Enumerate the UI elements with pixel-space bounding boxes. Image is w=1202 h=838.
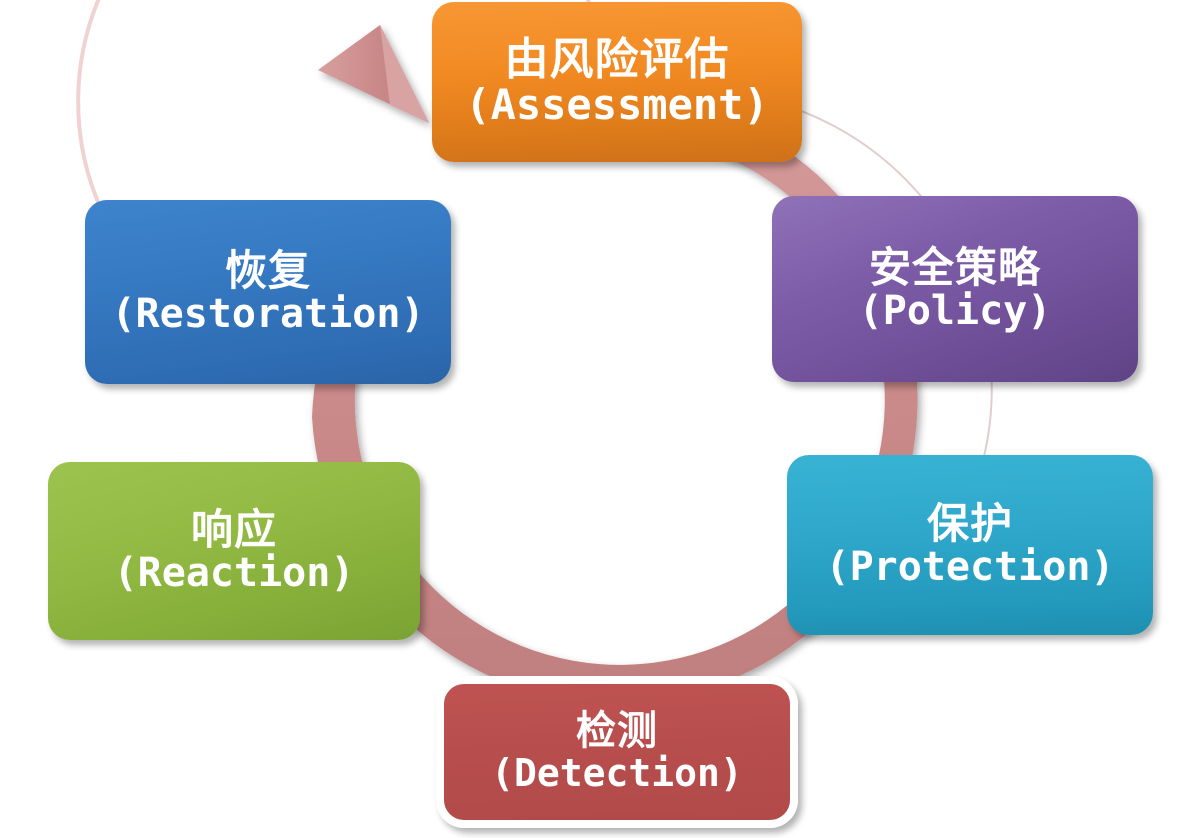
cycle-node-reaction[interactable]: 响应 (Reaction) [48,462,420,640]
cycle-node-protection[interactable]: 保护 (Protection) [787,455,1153,635]
node-label-cn: 检测 [491,711,743,753]
cycle-node-policy[interactable]: 安全策略 (Policy) [772,196,1138,382]
cycle-node-assessment[interactable]: 由风险评估 (Assessment) [432,2,802,162]
node-label-cn: 由风险评估 [465,37,768,83]
node-label-en: (Assessment) [465,83,768,128]
node-label-cn: 安全策略 [859,246,1052,290]
node-label-en: (Restoration) [111,293,424,335]
cycle-node-restoration[interactable]: 恢复 (Restoration) [85,200,451,384]
node-label-en: (Protection) [826,546,1115,588]
node-label-cn: 恢复 [111,249,424,293]
cycle-node-detection[interactable]: 检测 (Detection) [436,676,798,828]
node-label-cn: 保护 [826,502,1115,546]
node-label-en: (Detection) [491,753,743,793]
diagram-canvas: 由风险评估 (Assessment) 安全策略 (Policy) 保护 (Pro… [0,0,1202,838]
node-label-cn: 响应 [114,508,355,552]
node-label-en: (Reaction) [114,552,355,594]
node-label-en: (Policy) [859,290,1052,332]
